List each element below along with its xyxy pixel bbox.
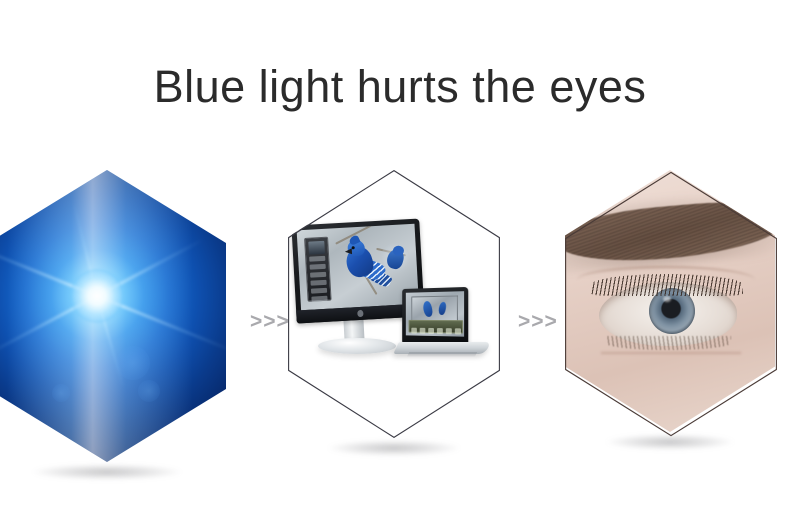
logo-mark-icon <box>357 310 363 317</box>
bird-beak <box>345 248 352 254</box>
lower-eyelashes <box>605 336 731 350</box>
flare-bokeh <box>138 380 160 402</box>
laptop-lid <box>402 287 468 345</box>
process-flow: >>> >>> <box>0 170 800 490</box>
laptop-filmstrip-toolbar <box>409 320 464 334</box>
upper-eyelashes <box>591 274 743 296</box>
palette-thumbnail <box>308 241 325 255</box>
flare-bokeh <box>52 384 70 402</box>
editor-tool-palette <box>304 237 332 302</box>
light-burst-core <box>70 269 124 323</box>
eye-image <box>565 170 775 432</box>
hex-panel-blue-light[interactable] <box>0 170 226 462</box>
bird-body <box>422 300 434 317</box>
arrow-separator-1: >>> <box>250 310 290 334</box>
laptop-base-shadow <box>407 352 477 357</box>
blue-jay-bird-secondary <box>380 242 412 276</box>
panel-shadow <box>606 434 734 450</box>
laptop-photo-canvas <box>411 295 458 321</box>
hex-panel-digital-devices[interactable] <box>288 170 500 438</box>
device-scene <box>288 170 500 438</box>
panel-shadow <box>328 440 460 456</box>
infographic-canvas: Blue light hurts the eyes <box>0 0 800 531</box>
page-title: Blue light hurts the eyes <box>0 62 800 112</box>
flare-bokeh <box>116 346 150 380</box>
arrow-separator-2: >>> <box>518 310 558 334</box>
laptop-computer <box>396 288 488 366</box>
monitor-stand-base <box>318 338 396 354</box>
hex-panel-human-eye[interactable] <box>565 170 775 432</box>
under-eye-fold <box>601 352 741 376</box>
eye-scene <box>565 170 775 432</box>
bird-body <box>438 301 447 315</box>
blue-light-image <box>0 170 226 462</box>
laptop-screen <box>406 291 464 337</box>
panel-shadow <box>32 464 182 480</box>
devices-image <box>288 170 500 438</box>
